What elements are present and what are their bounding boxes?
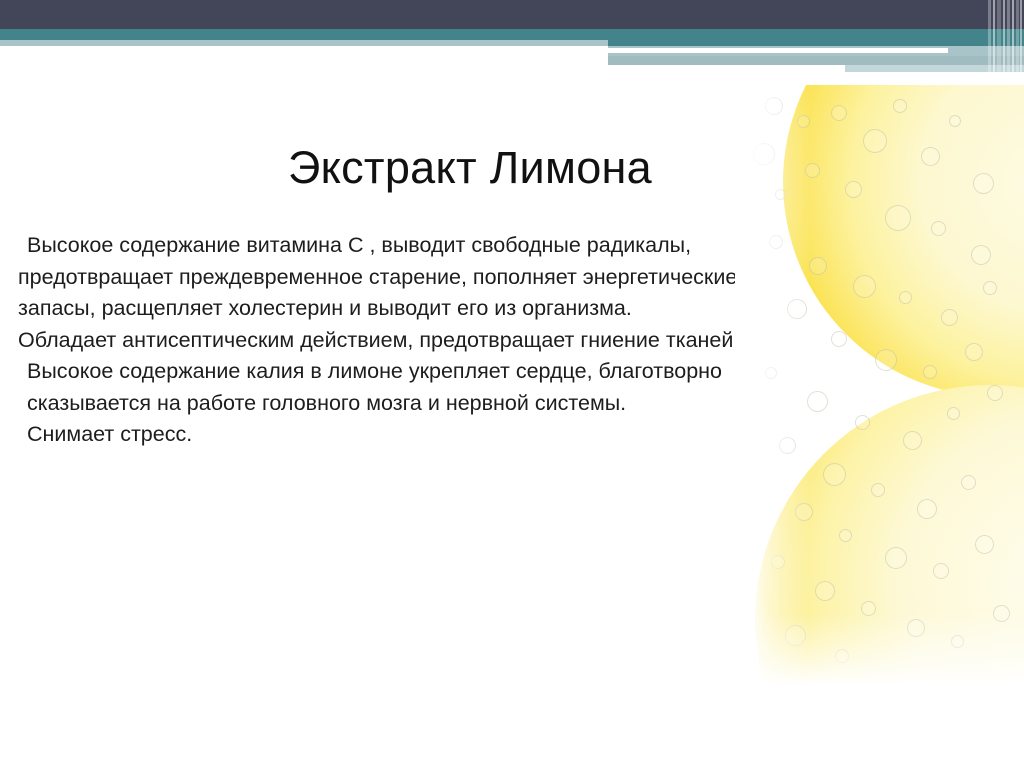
bubble bbox=[861, 601, 876, 616]
bubble bbox=[831, 105, 847, 121]
bubble bbox=[787, 299, 807, 319]
bubble bbox=[855, 415, 870, 430]
body-line: Обладает антисептическим действием, пред… bbox=[18, 325, 788, 357]
bubble bbox=[885, 547, 907, 569]
bubble bbox=[779, 437, 796, 454]
bubble bbox=[805, 163, 820, 178]
bubble bbox=[975, 535, 994, 554]
bubble bbox=[823, 463, 846, 486]
banner-stripe-4 bbox=[1003, 0, 1005, 72]
bubble bbox=[797, 115, 810, 128]
bubble bbox=[941, 309, 958, 326]
banner-band-pale-right-2 bbox=[608, 56, 1024, 65]
bubble bbox=[809, 257, 827, 275]
bubble bbox=[949, 115, 961, 127]
lemon-slice-upper bbox=[783, 85, 1024, 397]
bubble bbox=[871, 483, 885, 497]
bubble bbox=[769, 235, 783, 249]
bubble bbox=[839, 529, 852, 542]
bubble bbox=[973, 173, 994, 194]
bubble bbox=[893, 99, 907, 113]
body-text-block: Высокое содержание витамина С , выводит … bbox=[18, 230, 788, 451]
body-line: Высокое содержание витамина С , выводит … bbox=[18, 230, 788, 262]
bubble bbox=[875, 349, 897, 371]
bubble bbox=[853, 275, 876, 298]
bubble bbox=[951, 635, 964, 648]
bubble bbox=[885, 205, 911, 231]
bubble bbox=[845, 181, 862, 198]
bubble bbox=[971, 245, 991, 265]
body-line: Высокое содержание калия в лимоне укрепл… bbox=[18, 356, 788, 388]
header-banner bbox=[0, 0, 1024, 72]
bubble bbox=[921, 147, 940, 166]
bubble bbox=[931, 221, 946, 236]
bubble bbox=[987, 385, 1003, 401]
body-line: запасы, расщепляет холестерин и выводит … bbox=[18, 293, 788, 325]
bubble bbox=[807, 391, 828, 412]
banner-stripe-2 bbox=[993, 0, 995, 72]
bubble bbox=[795, 503, 813, 521]
bubble bbox=[899, 291, 912, 304]
banner-stripe-3 bbox=[997, 0, 1001, 72]
slide-canvas: Экстракт Лимона Высокое содержание витам… bbox=[0, 0, 1024, 767]
bubble bbox=[947, 407, 960, 420]
bubble bbox=[785, 625, 806, 646]
body-line: Снимает стресс. bbox=[18, 419, 788, 451]
banner-band-white-sliver bbox=[608, 48, 948, 53]
banner-band-dark bbox=[0, 0, 1024, 29]
banner-stripe-8 bbox=[1020, 0, 1022, 72]
bubble bbox=[765, 97, 783, 115]
bubble bbox=[753, 143, 775, 165]
bubble bbox=[917, 499, 937, 519]
bubble bbox=[863, 129, 887, 153]
bubble bbox=[961, 475, 976, 490]
bubble bbox=[835, 649, 849, 663]
bubble bbox=[933, 563, 949, 579]
banner-stripe-1 bbox=[988, 0, 991, 72]
bubble bbox=[983, 281, 997, 295]
bubble bbox=[907, 619, 925, 637]
body-line: сказывается на работе головного мозга и … bbox=[18, 388, 788, 420]
bubble bbox=[965, 343, 983, 361]
banner-stripe-7 bbox=[1016, 0, 1019, 72]
bubble bbox=[771, 555, 785, 569]
bubble bbox=[815, 581, 835, 601]
lemon-slices-photo bbox=[735, 85, 1024, 685]
bubble bbox=[923, 365, 937, 379]
banner-stripe-6 bbox=[1012, 0, 1014, 72]
banner-band-white-left bbox=[0, 46, 608, 72]
banner-stripe-5 bbox=[1007, 0, 1010, 72]
bubble bbox=[831, 331, 847, 347]
bubble bbox=[775, 189, 786, 200]
bubble bbox=[903, 431, 922, 450]
bubble bbox=[993, 605, 1010, 622]
bubble bbox=[765, 367, 777, 379]
body-line: предотвращает преждевременное старение, … bbox=[18, 262, 788, 294]
